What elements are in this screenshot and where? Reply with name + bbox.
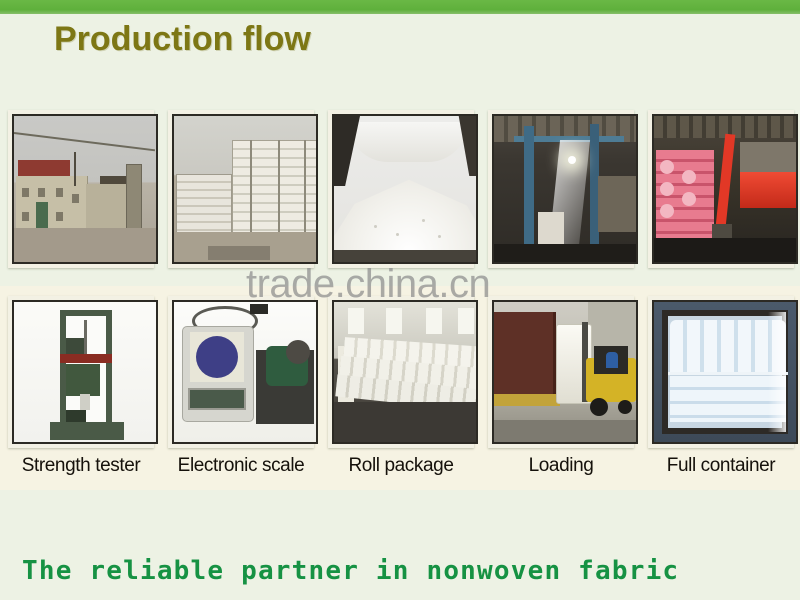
photo-frame bbox=[648, 296, 794, 448]
photo-full-container bbox=[652, 300, 798, 444]
photo-frame bbox=[168, 110, 314, 268]
photo-loading bbox=[492, 300, 638, 444]
gallery-item-fabric-rolls[interactable] bbox=[648, 110, 794, 268]
gallery-item-workshop[interactable] bbox=[488, 110, 634, 268]
photo-frame bbox=[328, 110, 474, 268]
gallery-item-raw-material-bags[interactable] bbox=[168, 110, 314, 268]
photo-red-fabric-rolls bbox=[652, 114, 798, 264]
photo-frame bbox=[488, 110, 634, 268]
photo-pellets-hopper bbox=[332, 114, 478, 264]
photo-frame bbox=[648, 110, 794, 268]
photo-frame bbox=[328, 296, 474, 448]
caption-electronic-scale: Electronic scale bbox=[168, 455, 314, 477]
gallery-item-electronic-scale[interactable]: Electronic scale bbox=[168, 296, 314, 477]
photo-raw-material-bags bbox=[172, 114, 318, 264]
gallery-item-loading[interactable]: Loading bbox=[488, 296, 634, 477]
photo-frame bbox=[8, 296, 154, 448]
photo-strength-tester bbox=[12, 300, 158, 444]
photo-factory-exterior bbox=[12, 114, 158, 264]
gallery-item-strength-tester[interactable]: Strength tester bbox=[8, 296, 154, 477]
photo-electronic-scale bbox=[172, 300, 318, 444]
photo-roll-package bbox=[332, 300, 478, 444]
tagline-banner: The reliable partner in nonwoven fabric bbox=[22, 556, 679, 586]
gallery-item-factory-exterior[interactable] bbox=[8, 110, 154, 268]
photo-frame bbox=[168, 296, 314, 448]
photo-frame bbox=[8, 110, 154, 268]
production-flow-slide: Production flow bbox=[0, 0, 800, 600]
caption-strength-tester: Strength tester bbox=[8, 455, 154, 477]
photo-workshop-interior bbox=[492, 114, 638, 264]
gallery-item-pellets[interactable] bbox=[328, 110, 474, 268]
caption-full-container: Full container bbox=[648, 455, 794, 477]
caption-roll-package: Roll package bbox=[328, 455, 474, 477]
photo-grid: Strength tester bbox=[0, 0, 800, 600]
photo-frame bbox=[488, 296, 634, 448]
caption-loading: Loading bbox=[488, 455, 634, 477]
gallery-item-roll-package[interactable]: Roll package bbox=[328, 296, 474, 477]
gallery-item-full-container[interactable]: Full container bbox=[648, 296, 794, 477]
